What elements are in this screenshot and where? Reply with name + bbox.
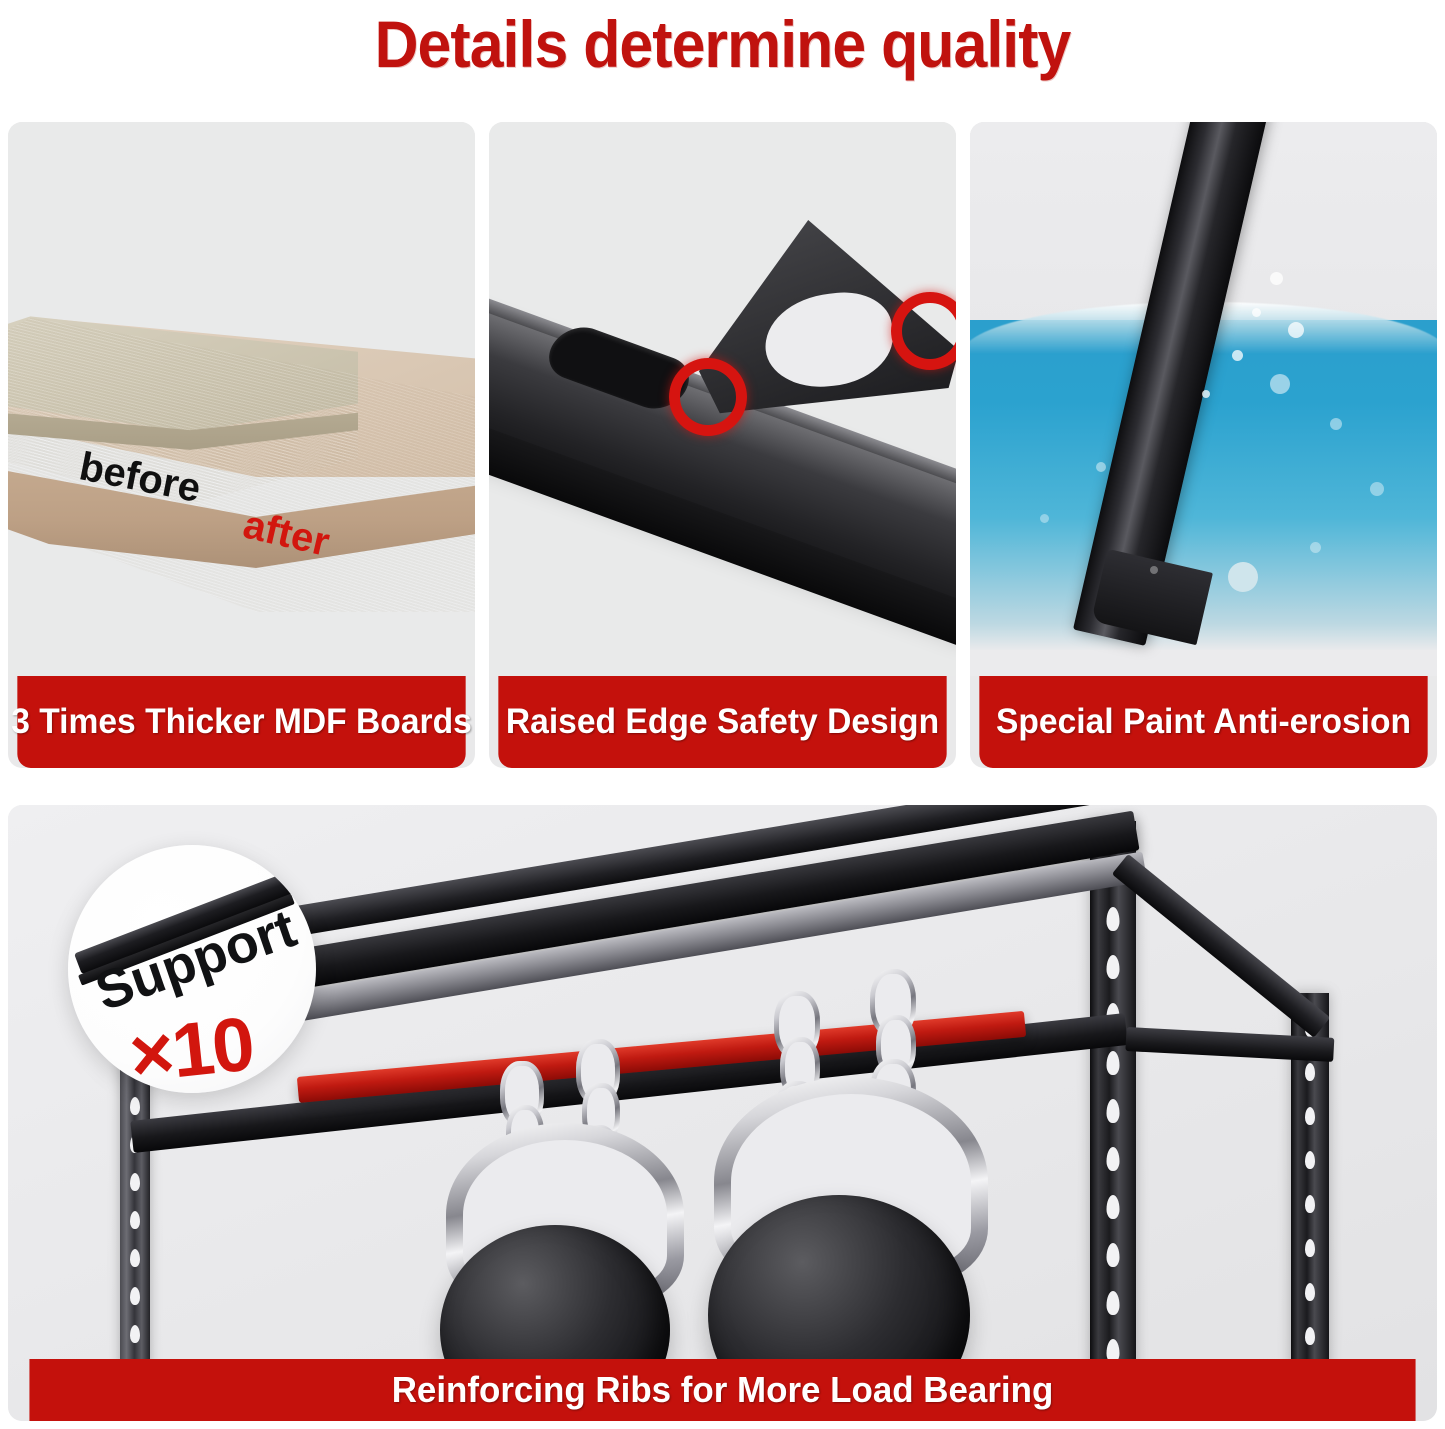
rack-upright-right-front	[1090, 821, 1136, 1421]
hero-caption-reinforcing-ribs: Reinforcing Ribs for More Load Bearing	[29, 1359, 1415, 1421]
hero-panel-reinforcing-ribs[interactable]: Support ×10 Reinforcing Ribs for More Lo…	[8, 805, 1437, 1421]
mdf-board-comparison-image: before after	[8, 122, 475, 676]
badge-multiplier-label: ×10	[125, 1000, 256, 1093]
feature-caption-anti-erosion: Special Paint Anti-erosion	[979, 676, 1427, 768]
raised-edge-bracket-image	[489, 122, 956, 676]
shelving-rack-image: Support ×10	[8, 805, 1437, 1421]
rack-diagonal-brace	[1112, 854, 1330, 1038]
support-count-badge: Support ×10	[68, 845, 316, 1093]
feature-card-row: before after 3 Times Thicker MDF Boards …	[8, 122, 1437, 768]
highlight-ring-icon	[669, 358, 747, 436]
feature-card-anti-erosion[interactable]: Special Paint Anti-erosion	[970, 122, 1437, 768]
feature-card-raised-edge[interactable]: Raised Edge Safety Design	[489, 122, 956, 768]
anti-erosion-water-image	[970, 122, 1437, 676]
feature-card-mdf-boards[interactable]: before after 3 Times Thicker MDF Boards	[8, 122, 475, 768]
feature-caption-raised-edge: Raised Edge Safety Design	[498, 676, 946, 768]
page-title: Details determine quality	[58, 2, 1387, 86]
feature-caption-mdf-boards: 3 Times Thicker MDF Boards	[17, 676, 465, 768]
